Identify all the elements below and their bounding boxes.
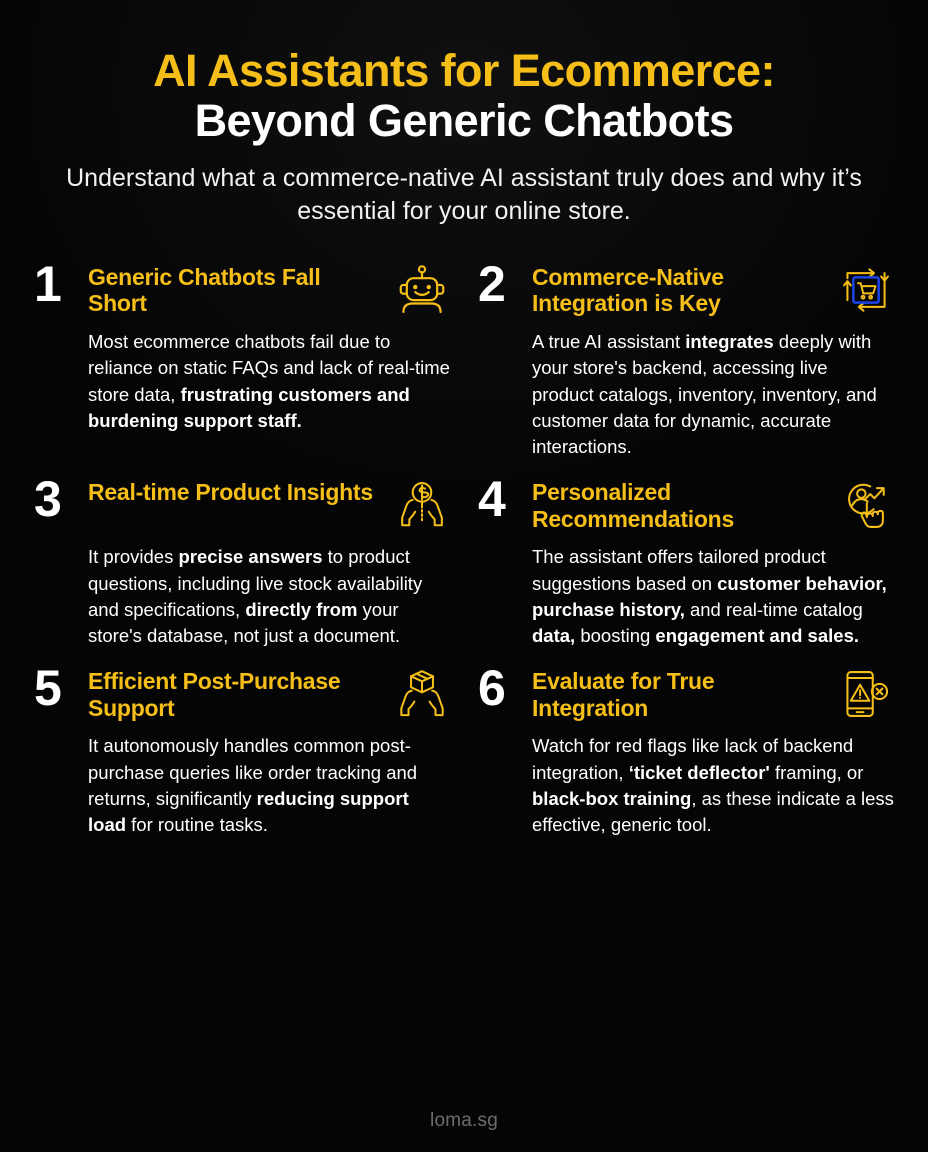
item-heading: Evaluate for True Integration [532,665,828,720]
robot-icon [394,263,450,319]
item-body: A true AI assistant integrates deeply wi… [532,329,894,460]
items-grid: 1 Generic Chatbots Fall Short [34,257,894,1104]
list-item: 1 Generic Chatbots Fall Short [34,257,450,460]
item-heading: Commerce-Native Integration is Key [532,261,828,316]
item-header: 5 Efficient Post-Purchase Support [34,665,450,723]
cart-sync-icon [838,263,894,319]
item-number: 3 [34,476,78,523]
item-header: 4 Personalized Recommendations [478,476,894,534]
list-item: 6 Evaluate for True Integration [478,661,894,838]
poster-subtitle: Understand what a commerce-native AI ass… [34,162,894,227]
item-number: 4 [478,476,522,523]
poster-header: AI Assistants for Ecommerce: Beyond Gene… [34,0,894,227]
item-body: Watch for red flags like lack of backend… [532,733,894,838]
item-body: It autonomously handles common post-purc… [88,733,450,838]
phone-warning-icon [838,667,894,723]
item-heading: Generic Chatbots Fall Short [88,261,384,316]
item-number: 2 [478,261,522,308]
hands-coin-icon [394,478,450,534]
list-item: 4 Personalized Recommendations The assis… [478,472,894,649]
item-header: 3 Real-time Product Insights [34,476,450,534]
item-number: 1 [34,261,78,308]
item-header: 1 Generic Chatbots Fall Short [34,261,450,319]
item-body: It provides precise answers to product q… [88,544,450,649]
item-body: The assistant offers tailored product su… [532,544,894,649]
item-number: 6 [478,665,522,712]
user-trend-tap-icon [838,478,894,534]
item-number: 5 [34,665,78,712]
item-body: Most ecommerce chatbots fail due to reli… [88,329,450,434]
infographic-poster: AI Assistants for Ecommerce: Beyond Gene… [0,0,928,1152]
hands-package-icon [394,667,450,723]
item-header: 2 Commerce-Native Integration is Key [478,261,894,319]
item-heading: Real-time Product Insights [88,476,384,505]
footer-watermark: loma.sg [34,1104,894,1152]
list-item: 5 Efficient Post-Purchase Support [34,661,450,838]
item-heading: Personalized Recommendations [532,476,828,531]
item-heading: Efficient Post-Purchase Support [88,665,384,720]
list-item: 2 Commerce-Native Integration is Key [478,257,894,460]
poster-title-line-2: Beyond Generic Chatbots [34,95,894,146]
poster-title-line-1: AI Assistants for Ecommerce: [34,48,894,95]
list-item: 3 Real-time Product Insights [34,472,450,649]
item-header: 6 Evaluate for True Integration [478,665,894,723]
